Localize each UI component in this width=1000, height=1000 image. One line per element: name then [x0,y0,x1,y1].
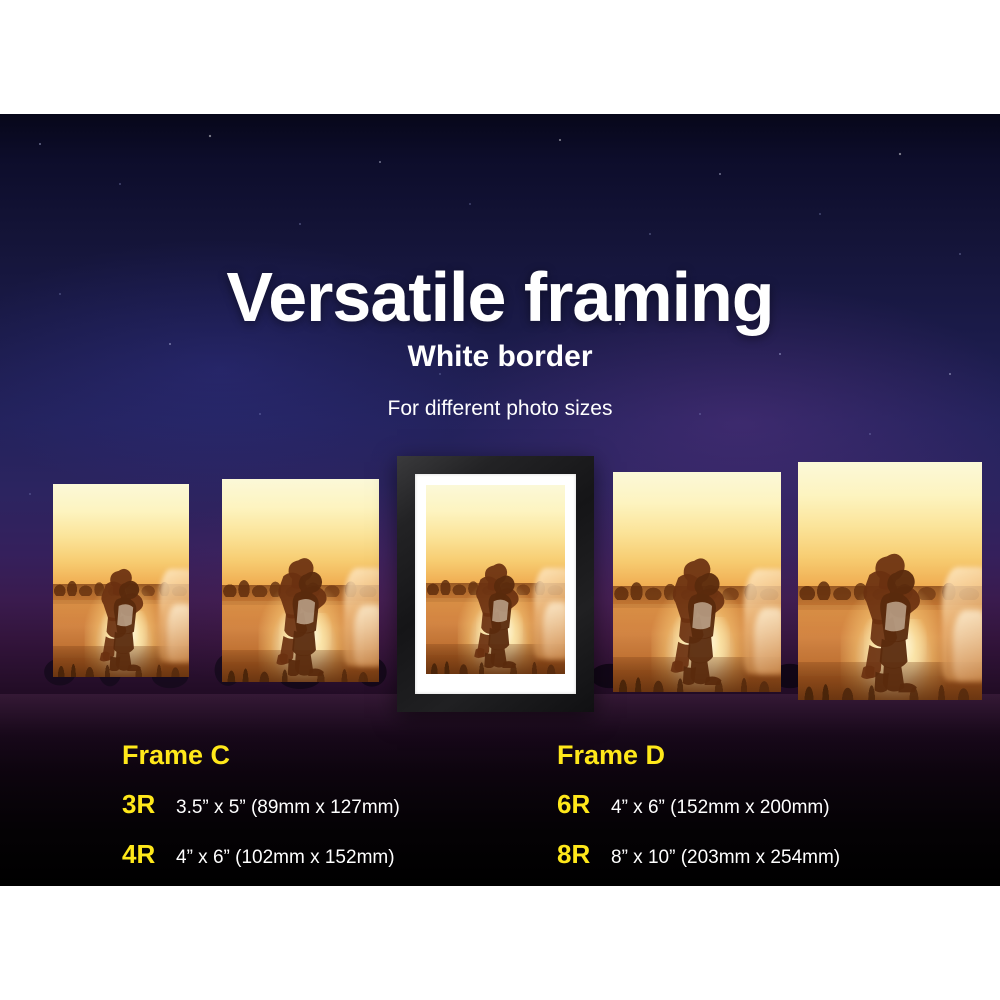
couple-silhouette-icon [838,502,941,692]
photo-sample-1[interactable] [53,484,189,677]
photo-sample-3-framed[interactable] [397,456,594,712]
photo-scene [426,485,565,674]
photo-scene [798,462,982,700]
spec-group-frame-c: Frame C 3R 3.5” x 5” (89mm x 127mm) 4R 4… [122,742,400,886]
couple-silhouette-icon [650,509,744,685]
photo-scene [613,472,781,692]
blurred-object-2 [953,610,982,681]
blurred-object-2 [167,604,189,662]
spec-row: 4R 4” x 6” (102mm x 152mm) [122,841,400,867]
page-title: Versatile framing [0,262,1000,332]
photo-sample-4[interactable] [613,472,781,692]
spec-code: 3R [122,791,176,817]
product-banner: Versatile framing White border For diffe… [0,0,1000,1000]
spec-row: 6R 4” x 6” (152mm x 200mm) [557,791,840,817]
couple-silhouette-icon [457,517,535,668]
spec-group-frame-d: Frame D 6R 4” x 6” (152mm x 200mm) 8R 8”… [557,742,840,886]
white-mat-border [415,474,576,694]
spec-dimensions: 4” x 6” (152mm x 200mm) [611,798,830,817]
spec-code: 4R [122,841,176,867]
couple-silhouette-icon [83,517,159,671]
photo-sample-2[interactable] [222,479,379,682]
spec-row: 8R 8” x 10” (203mm x 254mm) [557,841,840,867]
spec-dimensions: 8” x 10” (203mm x 254mm) [611,848,840,867]
spec-dimensions: 3.5” x 5” (89mm x 127mm) [176,798,400,817]
spec-group-title: Frame D [557,742,840,769]
subtitle: White border [0,342,1000,372]
tagline: For different photo sizes [0,398,1000,419]
photo-scene [222,479,379,682]
spec-code: 6R [557,791,611,817]
spec-group-title: Frame C [122,742,400,769]
blurred-object-2 [543,602,565,659]
spec-dimensions: 4” x 6” (102mm x 152mm) [176,848,395,867]
artwork-panel: Versatile framing White border For diffe… [0,114,1000,886]
spec-row: 3R 3.5” x 5” (89mm x 127mm) [122,791,400,817]
blurred-object-2 [754,608,781,674]
photo-scene [53,484,189,677]
blurred-object-2 [354,605,379,666]
couple-silhouette-icon [257,514,345,676]
spec-code: 8R [557,841,611,867]
photo-sample-5[interactable] [798,462,982,700]
